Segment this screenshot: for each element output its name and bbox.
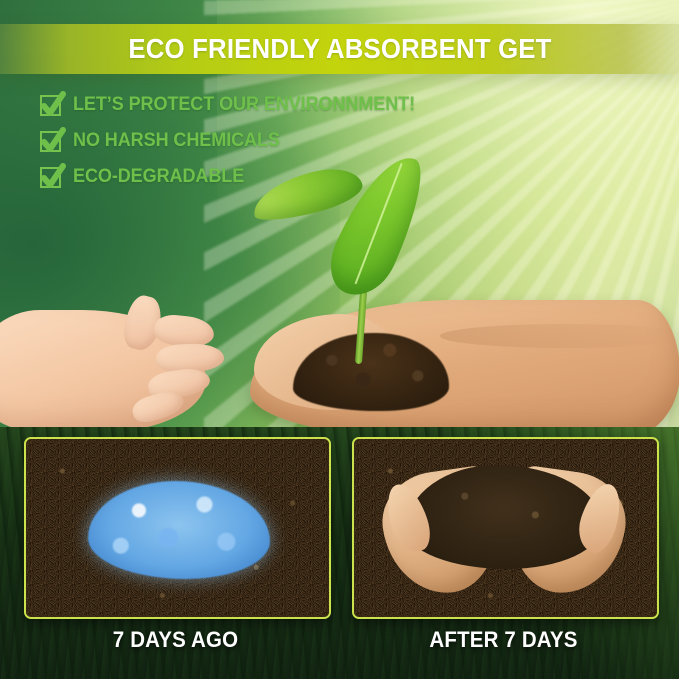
feature-label: LET’S PROTECT OUR ENVIRONNMENT!: [73, 94, 415, 116]
promo-image: ECO FRIENDLY ABSORBENT GET LET’S PROTECT…: [0, 0, 679, 679]
before-photo-panel: [24, 437, 331, 619]
feature-list: LET’S PROTECT OUR ENVIRONNMENT! NO HARSH…: [40, 92, 433, 190]
before-caption: 7 DAYS AGO: [35, 627, 317, 653]
checkbox-checked-icon: [40, 95, 61, 116]
soil-mound: [293, 333, 449, 411]
title-banner: ECO FRIENDLY ABSORBENT GET: [0, 24, 679, 74]
feature-label: ECO-DEGRADABLE: [73, 166, 244, 188]
feature-label: NO HARSH CHEMICALS: [73, 130, 280, 152]
baby-hand: [0, 310, 206, 432]
checkbox-checked-icon: [40, 131, 61, 152]
page-title: ECO FRIENDLY ABSORBENT GET: [128, 33, 551, 65]
checkbox-checked-icon: [40, 167, 61, 188]
after-caption: AFTER 7 DAYS: [363, 627, 645, 653]
list-item: NO HARSH CHEMICALS: [40, 128, 433, 154]
list-item: LET’S PROTECT OUR ENVIRONNMENT!: [40, 92, 433, 118]
list-item: ECO-DEGRADABLE: [40, 164, 433, 190]
after-photo-panel: [352, 437, 659, 619]
